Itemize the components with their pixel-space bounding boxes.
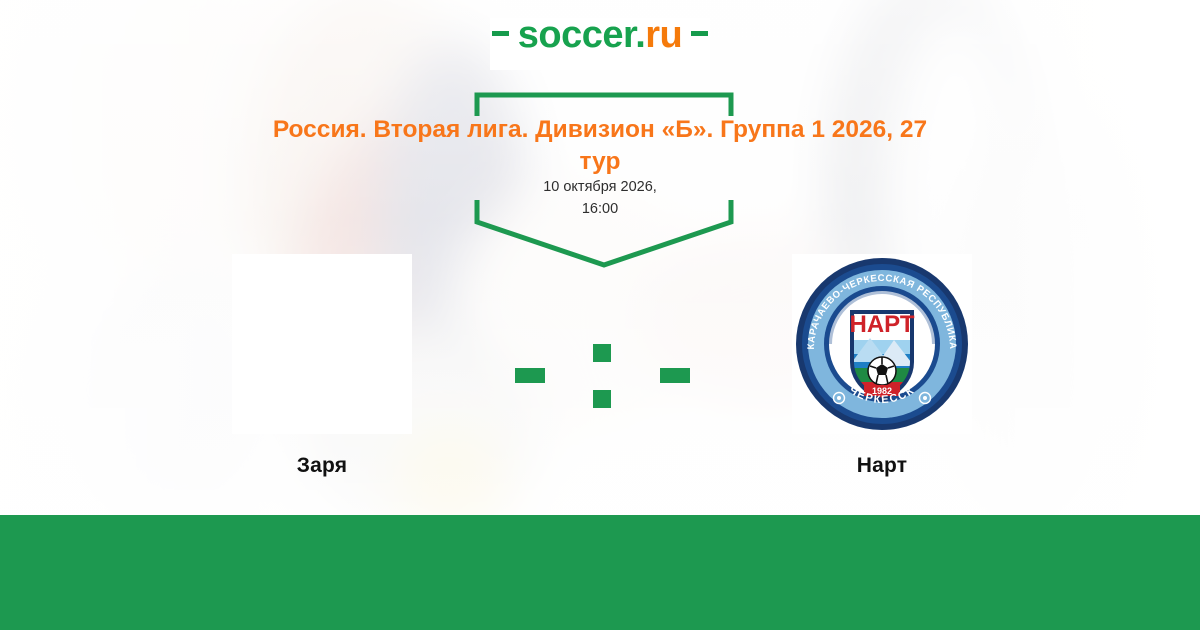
logo-dash-right-icon — [691, 31, 708, 36]
nart-crest-icon: НАРТ 1982 КАРАЧАЕВО-ЧЕРКЕССКАЯ РЕСПУБЛИК… — [792, 254, 972, 434]
away-team[interactable]: НАРТ 1982 КАРАЧАЕВО-ЧЕРКЕССКАЯ РЕСПУБЛИК… — [732, 254, 1032, 478]
site-logo[interactable]: soccer.ru — [0, 16, 1200, 54]
tournament-title: Россия. Вторая лига. Дивизион «Б». Групп… — [255, 114, 945, 177]
logo-text-soccer: soccer. — [518, 16, 646, 54]
away-score-placeholder — [660, 368, 690, 383]
home-team-crest — [232, 254, 412, 434]
logo-text-ru: ru — [645, 16, 682, 54]
away-team-crest: НАРТ 1982 КАРАЧАЕВО-ЧЕРКЕССКАЯ РЕСПУБЛИК… — [792, 254, 972, 434]
score-separator-bottom-dot — [593, 390, 611, 408]
match-date: 10 октября 2026, — [300, 176, 900, 198]
match-datetime: 10 октября 2026, 16:00 — [300, 176, 900, 220]
footer-band — [0, 515, 1200, 630]
home-score-placeholder — [515, 368, 545, 383]
score-separator-top-dot — [593, 344, 611, 362]
logo-dash-left-icon — [492, 31, 509, 36]
home-team-name: Заря — [172, 454, 472, 478]
score-block — [500, 336, 700, 416]
match-time: 16:00 — [300, 198, 900, 220]
home-team[interactable]: Заря — [172, 254, 472, 478]
match-preview-poster: soccer.ru Россия. Вторая лига. Дивизион … — [0, 0, 1200, 630]
away-team-name: Нарт — [732, 454, 1032, 478]
crest-title: НАРТ — [849, 311, 914, 338]
